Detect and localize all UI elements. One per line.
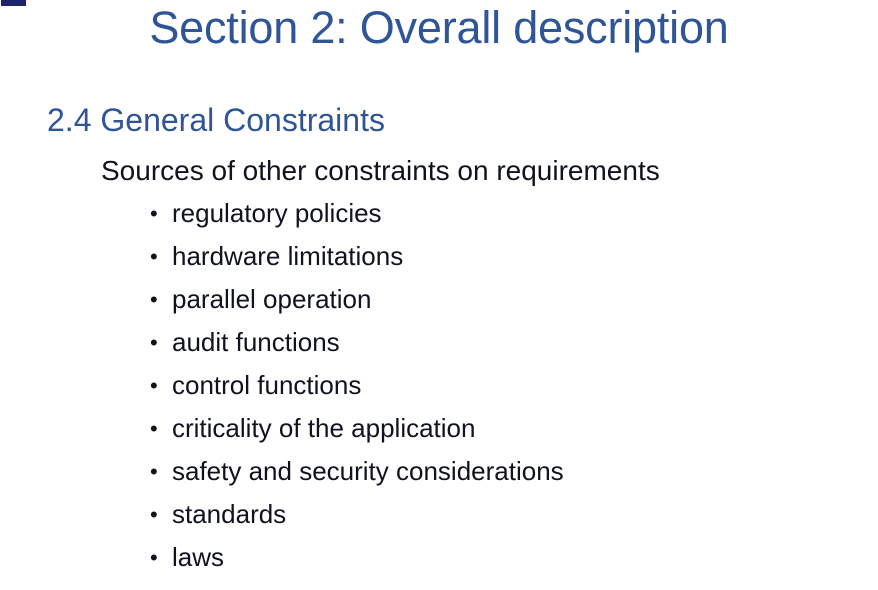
list-item: • audit functions bbox=[150, 326, 564, 369]
bullet-dot-icon: • bbox=[150, 412, 172, 445]
list-item: • regulatory policies bbox=[150, 197, 564, 240]
list-item-label: control functions bbox=[172, 369, 361, 402]
bullet-dot-icon: • bbox=[150, 283, 172, 316]
section-subheading: 2.4 General Constraints bbox=[47, 100, 385, 140]
body-lead-line: Sources of other constraints on requirem… bbox=[101, 153, 660, 189]
list-item-label: standards bbox=[172, 498, 286, 531]
list-item: • safety and security considerations bbox=[150, 455, 564, 498]
list-item: • criticality of the application bbox=[150, 412, 564, 455]
constraints-bullet-list: • regulatory policies • hardware limitat… bbox=[150, 197, 564, 584]
bullet-dot-icon: • bbox=[150, 240, 172, 273]
list-item: • control functions bbox=[150, 369, 564, 412]
bullet-dot-icon: • bbox=[150, 498, 172, 531]
bullet-dot-icon: • bbox=[150, 541, 172, 574]
bullet-dot-icon: • bbox=[150, 369, 172, 402]
list-item-label: hardware limitations bbox=[172, 240, 403, 273]
list-item-label: laws bbox=[172, 541, 224, 574]
list-item-label: audit functions bbox=[172, 326, 340, 359]
list-item: • parallel operation bbox=[150, 283, 564, 326]
presentation-slide: Section 2: Overall description 2.4 Gener… bbox=[0, 0, 878, 590]
list-item: • laws bbox=[150, 541, 564, 584]
list-item: • standards bbox=[150, 498, 564, 541]
list-item: • hardware limitations bbox=[150, 240, 564, 283]
list-item-label: regulatory policies bbox=[172, 197, 382, 230]
list-item-label: safety and security considerations bbox=[172, 455, 564, 488]
bullet-dot-icon: • bbox=[150, 326, 172, 359]
bullet-dot-icon: • bbox=[150, 455, 172, 488]
list-item-label: parallel operation bbox=[172, 283, 371, 316]
slide-title: Section 2: Overall description bbox=[0, 2, 878, 54]
list-item-label: criticality of the application bbox=[172, 412, 475, 445]
bullet-dot-icon: • bbox=[150, 197, 172, 230]
